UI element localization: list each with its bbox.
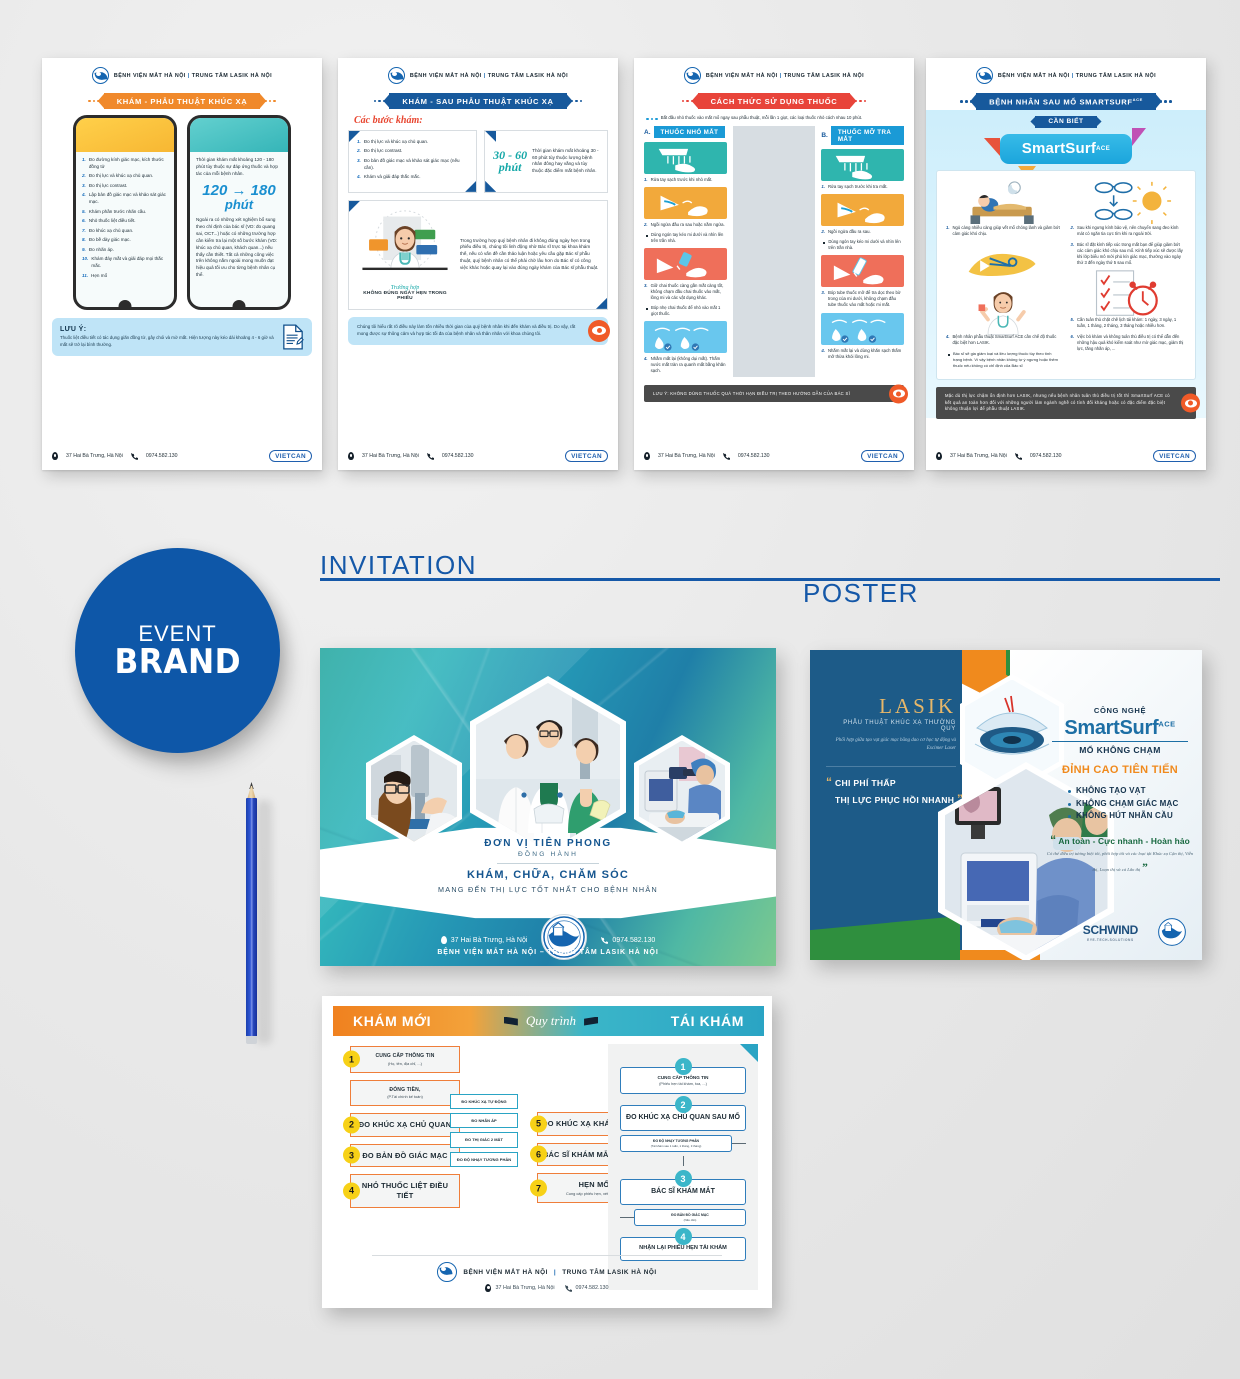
duration-value: 120 → 180 phút: [196, 183, 282, 212]
flow-step: 2 ĐO KHÚC XẠ CHỦ QUAN: [350, 1113, 460, 1137]
step-title: NHẬN LẠI PHIẾU HẸN TÁI KHÁM: [626, 1245, 740, 1253]
list-item: 1.Đo thị lực và khúc xạ chủ quan.: [357, 139, 468, 146]
footer-phone: 0974.582.130: [146, 453, 178, 459]
step-subtitle: (Họ, tên, địa chỉ, ...): [355, 1061, 455, 1066]
step-number-badge: 1: [343, 1051, 360, 1068]
location-pin-icon: [644, 452, 650, 460]
sunglasses-uv-illustration-icon: [1071, 179, 1187, 225]
step-subtitle: (Phiếu hẹn tái khám, toa, ...): [626, 1082, 740, 1086]
section-heading-script: Các bước khám:: [354, 115, 608, 126]
poster-lasik-block: LASIK PHẪU THUẬT KHÚC XẠ THƯỜNG QUY Phối…: [826, 694, 956, 752]
list-item: 10.Khám đáy mắt và giải đáp mọi thắc mắc…: [82, 256, 168, 270]
doctor-illustration-icon: [360, 209, 450, 279]
list-item: 9.Đo nhãn áp.: [82, 247, 168, 254]
phone-icon: [601, 937, 608, 944]
phone-body-left: 1.Đo đường kính giác mạc, kích thước đồn…: [76, 152, 174, 287]
step-title: BÁC SĨ KHÁM MẮT: [626, 1187, 740, 1196]
step-text: 3.Giữ chai thuốc càng gần mắt càng tốt, …: [644, 283, 727, 302]
step-title: CUNG CẤP THÔNG TIN: [355, 1053, 455, 1060]
info-item: 3.Bác sĩ đặt kính tiếp xúc trong mắt bạn…: [1071, 242, 1187, 266]
poster-slogan-sub: Có thể điều trị tương biệt tốt, phối hợp…: [1046, 850, 1194, 877]
bullet-dots-icon: [646, 117, 658, 122]
step-title: CUNG CẤP THÔNG TIN: [626, 1075, 740, 1081]
quote-open-icon: “: [1050, 833, 1056, 847]
schwind-logo: SCHWIND EYE-TECH-SOLUTIONS: [1083, 923, 1138, 942]
list-item: 3.Đo thị lực contrast.: [82, 183, 168, 190]
document-pen-icon: [282, 324, 304, 350]
bottom-note-text: Chúng tôi hiểu rất rõ điều này làm tốn n…: [357, 324, 575, 336]
poster-tech-label: CÔNG NGHỆ: [1046, 706, 1194, 715]
photo-frame: [639, 741, 725, 842]
recheck-column: 1 CUNG CẤP THÔNG TIN (Phiếu hẹn tái khám…: [608, 1044, 758, 1290]
location-pin-icon: [52, 452, 58, 460]
info-item: 5.Cần tuân thủ chặt chẽ lịch tái khám: 1…: [1071, 317, 1187, 329]
column-a-heading: A. THUỐC NHỎ MẮT: [644, 126, 727, 138]
poster-tech-sub: MỔ KHÔNG CHẠM: [1046, 745, 1194, 755]
brand-line-2: BRAND: [114, 645, 241, 679]
doctor-illustration-icon: [946, 288, 1062, 334]
duration-paragraph: Thời gian khám mất khoảng 30 - 60 phút t…: [532, 148, 599, 176]
info-columns: 1.Ngủ càng nhiều càng giúp vết mổ chóng …: [946, 179, 1186, 372]
flyer-title: KHÁM - SAU PHẪU THUẬT KHÚC XẠ: [389, 93, 566, 109]
flowchart-footer: BỆNH VIỆN MẮT HÀ NỘI|TRUNG TÂM LASIK HÀ …: [372, 1255, 722, 1292]
invitation-divider: [497, 863, 599, 864]
photo-frame: [371, 741, 457, 842]
flyer-header-text: BỆNH VIỆN MẮT HÀ NỘI|TRUNG TÂM LASIK HÀ …: [706, 73, 864, 79]
checklist-clock-illustration-icon: [1071, 271, 1187, 317]
flyer-title: CÁCH THỨC SỬ DỤNG THUỐC: [698, 93, 851, 109]
blue-pencil: [246, 782, 257, 1044]
flow-step: 4 NHỎ THUỐC LIỆT ĐIỀU TIẾT: [350, 1174, 460, 1207]
post-op-step-list: 1.Đo thị lực và khúc xạ chủ quan. 2.Đo t…: [357, 139, 468, 181]
portfolio-mockup-canvas: BỆNH VIỆN MẮT HÀ NỘI|TRUNG TÂM LASIK HÀ …: [0, 0, 1240, 1379]
flyer-header-text: BỆNH VIỆN MẮT HÀ NỘI|TRUNG TÂM LASIK HÀ …: [998, 73, 1156, 79]
poster-tech-block: CÔNG NGHỆ SmartSurfACE MỔ KHÔNG CHẠM ĐỈN…: [1046, 706, 1194, 877]
hospital-logo-icon: [1158, 918, 1186, 946]
step-number-badge: 3: [675, 1170, 692, 1187]
flyer-title: BỆNH NHÂN SAU MỔ SMARTSURFACE: [976, 93, 1156, 110]
flyer-title: KHÁM - PHẪU THUẬT KHÚC XẠ: [104, 93, 261, 109]
flow-step: ĐÓNG TIỀN, (P.Tài chính kế toán): [350, 1080, 460, 1107]
case-card: Trường hợp KHÔNG ĐÚNG NGÀY HẸN TRONG PHI…: [348, 200, 608, 310]
branch-box: ĐO NHÃN ÁP: [450, 1113, 518, 1128]
step-text: 4.Nhắm mắt lại và dùng khăn sạch thấm mỡ…: [821, 348, 904, 360]
info-col-right: 2.Sau khi ngưng kính bảo vệ, nên chuyển …: [1071, 179, 1187, 372]
lead-text: Bắt đầu nhỏ thuốc vào mắt mổ ngay sau ph…: [661, 115, 862, 121]
photo-hex-doctors: [470, 676, 626, 858]
banner-right-title: TÁI KHÁM: [671, 1013, 744, 1029]
process-flowchart-poster: KHÁM MỚI Quy trình TÁI KHÁM 1 CUNG CẤP T…: [322, 996, 772, 1308]
case-paragraph: Trong trường hợp quý bệnh nhân đi không …: [460, 238, 599, 272]
red-accent-triangle-icon: [984, 138, 1000, 156]
tilt-head-illustration-icon: [821, 194, 904, 226]
phone-icon: [427, 453, 434, 460]
connector-line: [620, 1217, 634, 1218]
step-text: 4.Nhắm mắt lại (không dụi mắt). Thấm nướ…: [644, 356, 727, 375]
note-box: LƯU Ý: Thuốc liệt điều tiết có tác dụng …: [52, 318, 312, 356]
flyer-header-text: BỆNH VIỆN MẮT HÀ NỘI|TRUNG TÂM LASIK HÀ …: [114, 73, 272, 79]
list-item: 2.Đo thị lực và khúc xạ chủ quan.: [82, 173, 168, 180]
steps-card: 1.Đo thị lực và khúc xạ chủ quan. 2.Đo t…: [348, 130, 477, 193]
schwind-logo-sub: EYE-TECH-SOLUTIONS: [1083, 938, 1138, 942]
phone-top-yellow: [76, 118, 174, 152]
hospital-logo-icon: [684, 67, 701, 84]
phone-home-button-icon: [119, 300, 132, 310]
pencil-shadow: [256, 800, 272, 1044]
wash-hands-illustration-icon: [644, 142, 727, 174]
info-item: 2.Sau khi ngưng kính bảo vệ, nên chuyển …: [1071, 225, 1187, 237]
invitation-photo-hexes: [320, 674, 776, 860]
lasik-poster: LASIK PHẪU THUẬT KHÚC XẠ THƯỜNG QUY Phối…: [810, 650, 1202, 960]
flyer-subtitle: CẦN BIẾT: [1035, 116, 1096, 128]
banner-mid-title: Quy trình: [526, 1013, 576, 1029]
column-letter: A.: [644, 129, 651, 136]
invitation-subtitle: ĐỒNG HÀNH: [320, 851, 776, 858]
agency-logo: VIETCAN: [269, 450, 312, 462]
flyer-title-ribbon: KHÁM - SAU PHẪU THUẬT KHÚC XẠ: [348, 93, 608, 109]
list-item: 5.Khám phần trước nhãn cầu.: [82, 209, 168, 216]
bottom-note: Chúng tôi hiểu rất rõ điều này làm tốn n…: [348, 317, 608, 345]
wash-hands-illustration-icon: [821, 149, 904, 181]
contact-lens-tweezers-illustration-icon: [946, 242, 1062, 288]
exam-step-list: 1.Đo đường kính giác mạc, kích thước đồn…: [82, 157, 168, 279]
column-divider: [733, 126, 816, 377]
flyer-smartsurf: BỆNH VIỆN MẮT HÀ NỘI|TRUNG TÂM LASIK HÀ …: [926, 58, 1206, 470]
banner-left-title: KHÁM MỚI: [353, 1013, 431, 1029]
flyer-header: BỆNH VIỆN MẮT HÀ NỘI|TRUNG TÂM LASIK HÀ …: [644, 67, 904, 89]
extra-tests-paragraph: Ngoài ra có những xét nghiệm bổ sung the…: [196, 217, 282, 279]
flow-side-step: ĐO BẢN ĐỒ GIÁC MẠC (Nếu cần): [634, 1209, 746, 1227]
invitation-copy: ĐƠN VỊ TIÊN PHONG ĐỒNG HÀNH KHÁM, CHỮA, …: [320, 838, 776, 894]
sleeping-patient-illustration-icon: [946, 179, 1062, 225]
phone-card-steps: 1.Đo đường kính giác mạc, kích thước đồn…: [73, 115, 177, 310]
photo-hex-surgery: [634, 735, 730, 847]
flyer-title-ribbon: KHÁM - PHẪU THUẬT KHÚC XẠ: [52, 93, 312, 109]
flag-right-icon: [584, 1017, 598, 1026]
ointment-tube-illustration-icon: [821, 255, 904, 287]
list-item: 8.Đo bề dày giác mạc.: [82, 237, 168, 244]
location-pin-icon: [485, 1284, 491, 1292]
warning-bar: LƯU Ý: KHÔNG DÙNG THUỐC QUÁ THỜI HẠN ĐIỀ…: [644, 385, 904, 402]
info-col-left: 1.Ngủ càng nhiều càng giúp vết mổ chóng …: [946, 179, 1062, 372]
banner-middle: Quy trình: [504, 1013, 598, 1029]
step-subtitle: (Tái khám sau 1 tuần, 1 tháng, 3 tháng): [625, 1144, 727, 1148]
step-subtitle: (P.Tài chính kế toán): [355, 1094, 455, 1099]
footer-phone: 0974.582.130: [442, 453, 474, 459]
location-pin-icon: [441, 936, 447, 944]
connector-line: [732, 1143, 746, 1144]
location-pin-icon: [348, 452, 354, 460]
list-item: 4.Khám và giải đáp thắc mắc.: [357, 174, 468, 181]
list-item: 3.Đo bản đồ giác mạc và khảo sát giác mạ…: [357, 158, 468, 172]
poster-tech-head: ĐỈNH CAO TIÊN TIẾN: [1046, 764, 1194, 776]
invitation-title: ĐƠN VỊ TIÊN PHONG: [320, 838, 776, 849]
note-body: Thuốc liệt điều tiết có tác dụng giãn đồ…: [60, 335, 276, 348]
step-text: 1.Rửa tay sạch trước khi nhỏ mắt.: [644, 177, 727, 183]
step-number-badge: 2: [343, 1116, 360, 1133]
flag-left-icon: [504, 1017, 518, 1026]
hospital-logo-icon: [92, 67, 109, 84]
step-number-badge: 4: [675, 1228, 692, 1245]
disclaimer-bar: Mặc dù thị lực chậm ổn định hơn LASIK, n…: [936, 387, 1196, 419]
step-number-badge: 2: [675, 1096, 692, 1113]
flyer-title-ribbon: BỆNH NHÂN SAU MỔ SMARTSURFACE: [936, 93, 1196, 110]
flyer-kham-phau-thuat: BỆNH VIỆN MẮT HÀ NỘI|TRUNG TÂM LASIK HÀ …: [42, 58, 322, 470]
medication-column-b: B. THUỐC MỠ TRA MẮT 1.Rửa tay sạch trước…: [821, 126, 904, 377]
poster-label: POSTER: [803, 578, 919, 609]
exam-steps-row: 1.Đo thị lực và khúc xạ chủ quan. 2.Đo t…: [348, 130, 608, 193]
quote-open-icon: “: [826, 775, 832, 789]
step-title: ĐÓNG TIỀN,: [355, 1087, 455, 1094]
phone-cards: 1.Đo đường kính giác mạc, kích thước đồn…: [52, 115, 312, 310]
step-title: ĐO ĐỘ NHẠY TƯƠNG PHẢN: [625, 1139, 727, 1144]
agency-logo: VIETCAN: [861, 450, 904, 462]
smartsurf-logo-text: SmartSurf: [1022, 140, 1096, 157]
hospital-logo-icon: [437, 1262, 457, 1282]
duration-paragraph: Thời gian khám mất khoảng 120 - 180 phút…: [196, 157, 282, 178]
step-subtitle: (Nếu cần): [639, 1218, 741, 1222]
duration-card: 30 - 60 phút Thời gian khám mất khoảng 3…: [484, 130, 608, 193]
flyer-header: BỆNH VIỆN MẮT HÀ NỘI|TRUNG TÂM LASIK HÀ …: [936, 67, 1196, 89]
phone-icon: [565, 1285, 572, 1292]
step-number-badge: 6: [530, 1146, 547, 1163]
photo-hex-exam: [366, 735, 462, 847]
flyer-su-dung-thuoc: BỆNH VIỆN MẮT HÀ NỘI|TRUNG TÂM LASIK HÀ …: [634, 58, 914, 470]
info-item: 4.Bệnh nhân phẫu thuật SmartSurf ACE cần…: [946, 334, 1062, 346]
invitation-footer: BỆNH VIỆN MẮT HÀ NỘI – TRUNG TÂM LASIK H…: [320, 949, 776, 956]
phone-icon: [1015, 453, 1022, 460]
phone-icon: [723, 453, 730, 460]
poster-lasik-script: Phối hợp giữa tạo vạt giác mạc bằng dao …: [826, 737, 956, 752]
phone-card-duration: Thời gian khám mất khoảng 120 - 180 phút…: [187, 115, 291, 310]
step-number-badge: 1: [675, 1058, 692, 1075]
note-title: LƯU Ý:: [60, 326, 276, 333]
step-text: 3.Bóp tube thuốc mỡ để tra dọc theo bờ t…: [821, 290, 904, 309]
flyer-footer: 37 Hai Bà Trưng, Hà Nội 0974.582.130 VIE…: [348, 450, 608, 462]
step-number-badge: 5: [530, 1115, 547, 1132]
step-subtext: Dùng ngón tay kéo mi dưới và nhìn lên tr…: [644, 232, 727, 244]
flyer-footer: 37 Hai Bà Trưng, Hà Nội 0974.582.130 VIE…: [52, 450, 312, 462]
step-title: ĐO BẢN ĐỒ GIÁC MẠC: [355, 1151, 455, 1161]
phone-body-right: Thời gian khám mất khoảng 120 - 180 phút…: [190, 152, 288, 288]
flowchart-branch-boxes: ĐO KHÚC XẠ TỰ ĐỘNG ĐO NHÃN ÁP ĐO THỊ GIÁ…: [450, 1094, 518, 1171]
squeeze-bottle-illustration-icon: [644, 248, 727, 280]
column-title: THUỐC MỠ TRA MẮT: [831, 126, 904, 145]
branch-box: ĐO KHÚC XẠ TỰ ĐỘNG: [450, 1094, 518, 1109]
list-item: KHÔNG CHẠM GIÁC MẠC: [1068, 798, 1194, 810]
smartsurf-logo: SmartSurfACE: [1000, 134, 1132, 164]
list-item: 11.Hẹn mổ: [82, 273, 168, 280]
tilt-head-illustration-icon: [644, 187, 727, 219]
step-text: 2.Ngồi ngửa đầu ra sau.: [821, 229, 904, 235]
flow-side-step: ĐO ĐỘ NHẠY TƯƠNG PHẢN (Tái khám sau 1 tu…: [620, 1135, 732, 1153]
smartsurf-logo-sup: ACE: [1096, 146, 1110, 152]
step-number-badge: 7: [530, 1180, 547, 1197]
location-pin-icon: [936, 452, 942, 460]
footer-address: 37 Hai Bà Trưng, Hà Nội: [658, 453, 715, 459]
invitation-label: INVITATION: [320, 550, 477, 581]
flyer-header-text: BỆNH VIỆN MẮT HÀ NỘI|TRUNG TÂM LASIK HÀ …: [410, 73, 568, 79]
phone-top-teal: [190, 118, 288, 152]
duration-unit: phút: [493, 161, 527, 174]
warning-text: LƯU Ý: KHÔNG DÙNG THUỐC QUÁ THỜI HẠN ĐIỀ…: [653, 391, 850, 396]
photo-patient-trial-frame: [371, 741, 457, 842]
invitation-headline: KHÁM, CHỮA, CHĂM SÓC: [320, 869, 776, 881]
step-title: NHỎ THUỐC LIỆT ĐIỀU TIẾT: [355, 1181, 455, 1200]
pencil-end-icon: [246, 1036, 257, 1044]
magenta-accent-triangle-icon: [1132, 128, 1146, 146]
list-item: 7.Đo khúc xạ chủ quan.: [82, 228, 168, 235]
phone-home-button-icon: [233, 300, 246, 310]
column-title: THUỐC NHỎ MẮT: [654, 126, 726, 138]
close-eye-illustration-icon: [821, 313, 904, 345]
invitation-tagline: MANG ĐẾN THỊ LỰC TỐT NHẤT CHO BỆNH NHÂN: [320, 885, 776, 894]
flow-step: 1 CUNG CẤP THÔNG TIN (Họ, tên, địa chỉ, …: [350, 1046, 460, 1073]
poster-quote-line-2: THỊ LỰC PHỤC HỒI NHANH: [835, 795, 954, 805]
flowchart-banner: KHÁM MỚI Quy trình TÁI KHÁM: [333, 1006, 764, 1036]
info-item: 6.Việc bỏ khám và không tuân thủ điều tr…: [1071, 334, 1187, 352]
footer-brand-line: BỆNH VIỆN MẮT HÀ NỘI|TRUNG TÂM LASIK HÀ …: [437, 1262, 656, 1282]
flyer-title-ribbon: CÁCH THỨC SỬ DỤNG THUỐC: [644, 93, 904, 109]
branch-box: ĐO THỊ GIÁC 2 MẮT: [450, 1132, 518, 1147]
step-text: 1.Rửa tay sạch trước khi tra mắt.: [821, 184, 904, 190]
info-item-sub: Bác sĩ sẽ gia giảm loại và liều lượng th…: [946, 351, 1062, 368]
step-text: 2.Ngồi ngửa đầu ra sau hoặc nằm ngửa.: [644, 222, 727, 228]
poster-slogan: “ An toàn - Cực nhanh - Hoàn hảo: [1046, 833, 1194, 847]
poster-lasik-subtitle: PHẪU THUẬT KHÚC XẠ THƯỜNG QUY: [826, 720, 956, 732]
schwind-logo-text: SCHWIND: [1083, 923, 1138, 937]
eye-badge-icon: [588, 320, 610, 342]
invitation-address: 37 Hai Bà Trưng, Hà Nội: [451, 937, 528, 944]
footer-address: 37 Hai Bà Trưng, Hà Nội: [66, 453, 123, 459]
event-brand-badge: EVENT BRAND: [75, 548, 280, 753]
step-title: ĐO BẢN ĐỒ GIÁC MẠC: [639, 1213, 741, 1218]
info-panel: 1.Ngủ càng nhiều càng giúp vết mổ chóng …: [936, 170, 1196, 381]
medication-columns: A. THUỐC NHỎ MẮT 1.Rửa tay sạch trước kh…: [644, 126, 904, 377]
flyer-footer: 37 Hai Bà Trưng, Hà Nội 0974.582.130 VIE…: [644, 450, 904, 462]
step-title: ĐO KHÚC XẠ CHỦ QUAN: [355, 1120, 455, 1130]
flyer-header: BỆNH VIỆN MẮT HÀ NỘI|TRUNG TÂM LASIK HÀ …: [348, 67, 608, 89]
list-item: 2.Đo thị lực contrast.: [357, 148, 468, 155]
poster-quote-line-1: CHI PHÍ THẤP: [835, 778, 896, 788]
lead-instruction: Bắt đầu nhỏ thuốc vào mắt mổ ngay sau ph…: [646, 115, 902, 121]
medication-column-a: A. THUỐC NHỎ MẮT 1.Rửa tay sạch trước kh…: [644, 126, 727, 377]
poster-brand-row: SCHWIND EYE-TECH-SOLUTIONS: [1083, 918, 1186, 946]
flyer-sau-phau-thuat: BỆNH VIỆN MẮT HÀ NỘI|TRUNG TÂM LASIK HÀ …: [338, 58, 618, 470]
invitation-card: ĐƠN VỊ TIÊN PHONG ĐỒNG HÀNH KHÁM, CHỮA, …: [320, 648, 776, 966]
case-caption: KHÔNG ĐÚNG NGÀY HẸN TRONG PHIẾU: [357, 291, 453, 301]
quote-close-icon: ”: [1142, 860, 1148, 874]
column-b-heading: B. THUỐC MỠ TRA MẮT: [821, 126, 904, 145]
step-subtext: Dùng ngón tay kéo mi dưới và nhìn lên tr…: [821, 239, 904, 251]
footer-phone: 0974.582.130: [738, 453, 770, 459]
eye-badge-icon: [889, 384, 908, 403]
pencil-body-icon: [246, 798, 257, 1038]
close-eye-illustration-icon: [644, 321, 727, 353]
list-item: 6.Nhỏ thuốc liệt điều tiết.: [82, 218, 168, 225]
disclaimer-text: Mặc dù thị lực chậm ổn định hơn LASIK, n…: [945, 393, 1170, 411]
poster-tech-name: SmartSurfACE: [1046, 717, 1194, 740]
info-item: 1.Ngủ càng nhiều càng giúp vết mổ chóng …: [946, 225, 1062, 237]
poster-lasik-title: LASIK: [826, 694, 956, 719]
footer-address: 37 Hai Bà Trưng, Hà Nội: [362, 453, 419, 459]
poster-benefit-list: KHÔNG TẠO VẠT KHÔNG CHẠM GIÁC MẠC KHÔNG …: [1046, 785, 1194, 822]
footer-phone: 0974.582.130: [1030, 453, 1062, 459]
hospital-logo-icon: [388, 67, 405, 84]
eye-badge-icon: [1181, 394, 1200, 413]
step-number-badge: 4: [343, 1182, 360, 1199]
hospital-logo-icon: [976, 67, 993, 84]
list-item: 4.Lập bản đồ giác mạc và khảo sát giác m…: [82, 192, 168, 206]
connector-line: [683, 1156, 684, 1166]
invitation-phone: 0974.582.130: [612, 937, 655, 944]
agency-logo: VIETCAN: [565, 450, 608, 462]
photo-medical-team: [476, 683, 620, 851]
flow-step: 3 ĐO BẢN ĐỒ GIÁC MẠC: [350, 1144, 460, 1168]
step-subtext: Bóp nhẹ chai thuốc để nhỏ vào mắt 1 giọt…: [644, 305, 727, 317]
list-item: KHÔNG HÚT NHÃN CẦU: [1068, 810, 1194, 822]
list-item: KHÔNG TẠO VẠT: [1068, 785, 1194, 797]
list-item: 1.Đo đường kính giác mạc, kích thước đồn…: [82, 157, 168, 171]
footer-address: 37 Hai Bà Trưng, Hà Nội: [950, 453, 1007, 459]
poster-tech-underline: [1052, 741, 1188, 742]
photo-surgery: [639, 741, 725, 842]
step-number-badge: 3: [343, 1147, 360, 1164]
phone-icon: [131, 453, 138, 460]
step-title: ĐO KHÚC XẠ CHỦ QUAN SAU MỔ: [626, 1113, 740, 1122]
column-letter: B.: [821, 132, 828, 139]
flyer-header: BỆNH VIỆN MẮT HÀ NỘI|TRUNG TÂM LASIK HÀ …: [52, 67, 312, 89]
branch-box: ĐO ĐỘ NHẠY TƯƠNG PHẢN: [450, 1152, 518, 1167]
agency-logo: VIETCAN: [1153, 450, 1196, 462]
poster-divider: [826, 766, 956, 767]
photo-frame: [476, 683, 620, 851]
footer-contact-line: 37 Hai Bà Trưng, Hà Nội 0974.582.130: [485, 1284, 608, 1292]
flyer-footer: 37 Hai Bà Trưng, Hà Nội 0974.582.130 VIE…: [936, 450, 1196, 462]
